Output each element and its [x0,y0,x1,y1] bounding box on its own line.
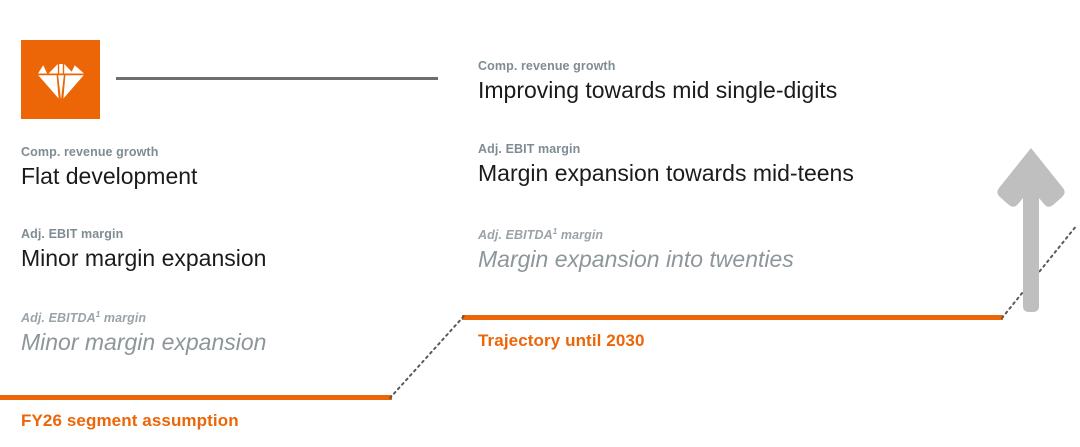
left-kicker-revenue-growth: Comp. revenue growth [21,146,197,160]
left-headline-ebit-margin: Minor margin expansion [21,245,266,271]
dotted-diagonal-connector [386,310,468,402]
up-arrow-icon [995,146,1067,317]
left-kicker-ebitda-text: Adj. EBITDA [21,311,96,325]
left-headline-revenue-growth: Flat development [21,163,197,189]
right-kicker-ebit-margin: Adj. EBIT margin [478,143,854,157]
left-headline-ebitda-margin: Minor margin expansion [21,329,266,355]
header-divider [116,77,438,80]
left-block-ebitda-margin: Adj. EBITDA1 margin Minor margin expansi… [21,311,266,355]
right-block-revenue-growth: Comp. revenue growth Improving towards m… [478,60,837,103]
right-headline-revenue-growth: Improving towards mid single-digits [478,77,837,103]
right-step-line [462,315,1003,320]
company-logo [21,40,100,119]
left-kicker-ebit-margin: Adj. EBIT margin [21,228,266,242]
right-kicker-revenue-growth: Comp. revenue growth [478,60,837,74]
right-headline-ebit-margin: Margin expansion towards mid-teens [478,160,854,186]
right-caption: Trajectory until 2030 [478,331,645,351]
right-kicker-ebitda-text: Adj. EBITDA [478,228,553,242]
right-headline-ebitda-margin: Margin expansion into twenties [478,246,794,272]
left-step-line [0,395,392,400]
right-block-ebit-margin: Adj. EBIT margin Margin expansion toward… [478,143,854,186]
right-kicker-ebitda-margin: Adj. EBITDA1 margin [478,228,794,243]
left-kicker-ebitda-tail: margin [100,311,146,325]
left-caption: FY26 segment assumption [21,411,239,431]
left-block-revenue-growth: Comp. revenue growth Flat development [21,146,197,189]
left-kicker-ebitda-margin: Adj. EBITDA1 margin [21,311,266,326]
right-block-ebitda-margin: Adj. EBITDA1 margin Margin expansion int… [478,228,794,272]
right-kicker-ebitda-tail: margin [557,228,603,242]
slide-canvas: Comp. revenue growth Flat development Ad… [0,0,1080,447]
left-block-ebit-margin: Adj. EBIT margin Minor margin expansion [21,228,266,271]
